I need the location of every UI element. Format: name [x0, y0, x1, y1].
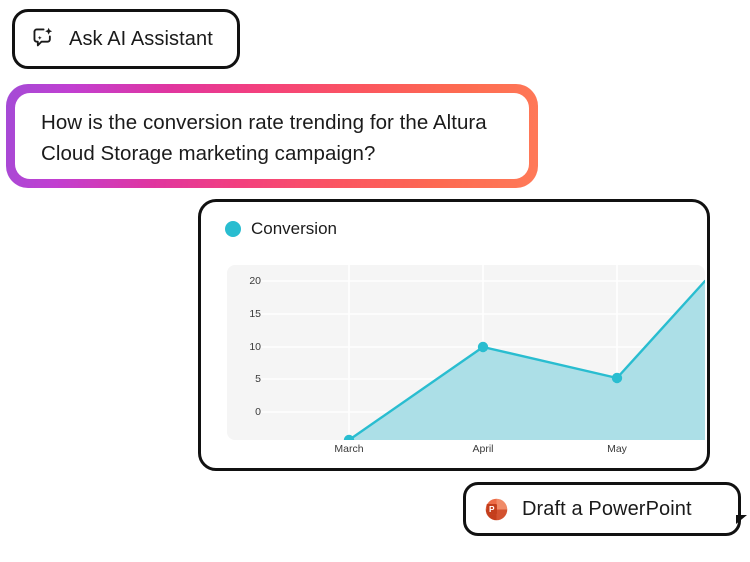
- legend-color-dot: [225, 221, 241, 237]
- y-tick-10: 10: [249, 341, 261, 353]
- legend-series-label: Conversion: [251, 219, 337, 239]
- area-chart-svg: [227, 265, 705, 440]
- ai-chat-sparkle-icon: [31, 26, 57, 52]
- chart-plot-area: 20 15 10 5 0 March April May: [227, 265, 705, 440]
- data-point-april: [478, 342, 488, 352]
- pointer-tail: [736, 515, 747, 524]
- ask-ai-assistant-button[interactable]: Ask AI Assistant: [12, 9, 240, 69]
- data-point-may: [612, 373, 622, 383]
- x-tick-may: May: [607, 443, 627, 455]
- svg-text:P: P: [489, 504, 495, 513]
- draft-powerpoint-button[interactable]: P Draft a PowerPoint: [463, 482, 741, 536]
- y-tick-0: 0: [255, 406, 261, 418]
- prompt-question-text: How is the conversion rate trending for …: [41, 107, 507, 169]
- y-tick-5: 5: [255, 373, 261, 385]
- y-tick-20: 20: [249, 275, 261, 287]
- series-area-fill: [349, 281, 705, 440]
- prompt-card[interactable]: How is the conversion rate trending for …: [15, 93, 529, 179]
- y-axis-tick-labels: 20 15 10 5 0: [227, 265, 261, 440]
- prompt-gradient-frame: How is the conversion rate trending for …: [6, 84, 538, 188]
- y-tick-15: 15: [249, 308, 261, 320]
- conversion-chart-card: Conversion: [198, 199, 710, 471]
- x-axis-tick-labels: March April May: [227, 443, 705, 459]
- draft-powerpoint-label: Draft a PowerPoint: [522, 498, 692, 521]
- ask-ai-assistant-label: Ask AI Assistant: [69, 28, 213, 51]
- x-tick-april: April: [472, 443, 493, 455]
- x-tick-march: March: [334, 443, 363, 455]
- chart-legend: Conversion: [201, 202, 707, 239]
- data-point-march: [344, 435, 354, 440]
- powerpoint-icon: P: [484, 497, 509, 522]
